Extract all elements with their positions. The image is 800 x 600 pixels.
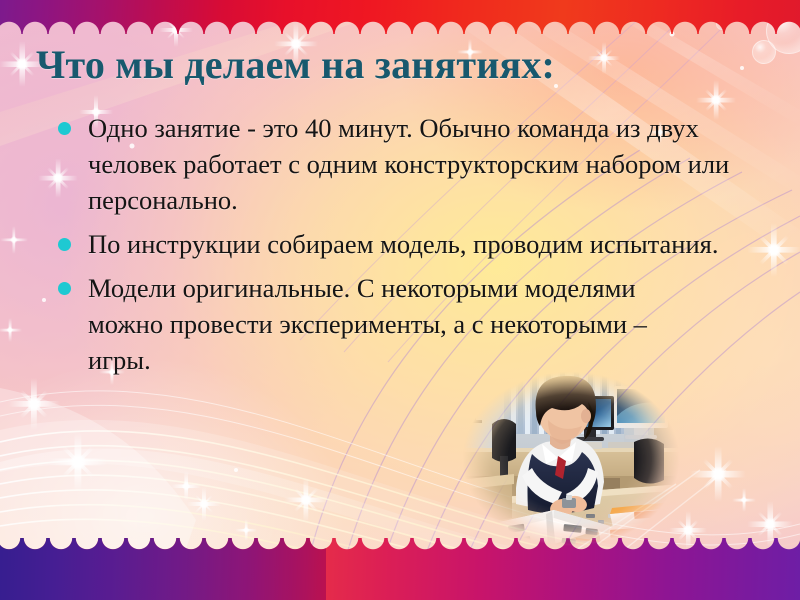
slide-content: Что мы делаем на занятиях: Одно занятие …: [0, 0, 800, 600]
boy-assembling-model-photo: [458, 368, 684, 550]
bullet-marker-icon: [58, 238, 71, 251]
bullet-text: Одно занятие - это 40 минут. Обычно кома…: [88, 113, 729, 215]
list-item: Модели оригинальные. С некоторыми моделя…: [52, 270, 648, 378]
list-item: Одно занятие - это 40 минут. Обычно кома…: [52, 110, 748, 218]
list-item: По инструкции собираем модель, проводим …: [52, 226, 728, 262]
bullet-marker-icon: [58, 122, 71, 135]
bullet-text: По инструкции собираем модель, проводим …: [88, 229, 718, 259]
bullet-marker-icon: [58, 282, 71, 295]
presentation-slide: Что мы делаем на занятиях: Одно занятие …: [0, 0, 800, 600]
bullet-text: Модели оригинальные. С некоторыми моделя…: [88, 273, 647, 375]
slide-title: Что мы делаем на занятиях:: [36, 44, 776, 86]
bullet-list: Одно занятие - это 40 минут. Обычно кома…: [52, 110, 720, 386]
